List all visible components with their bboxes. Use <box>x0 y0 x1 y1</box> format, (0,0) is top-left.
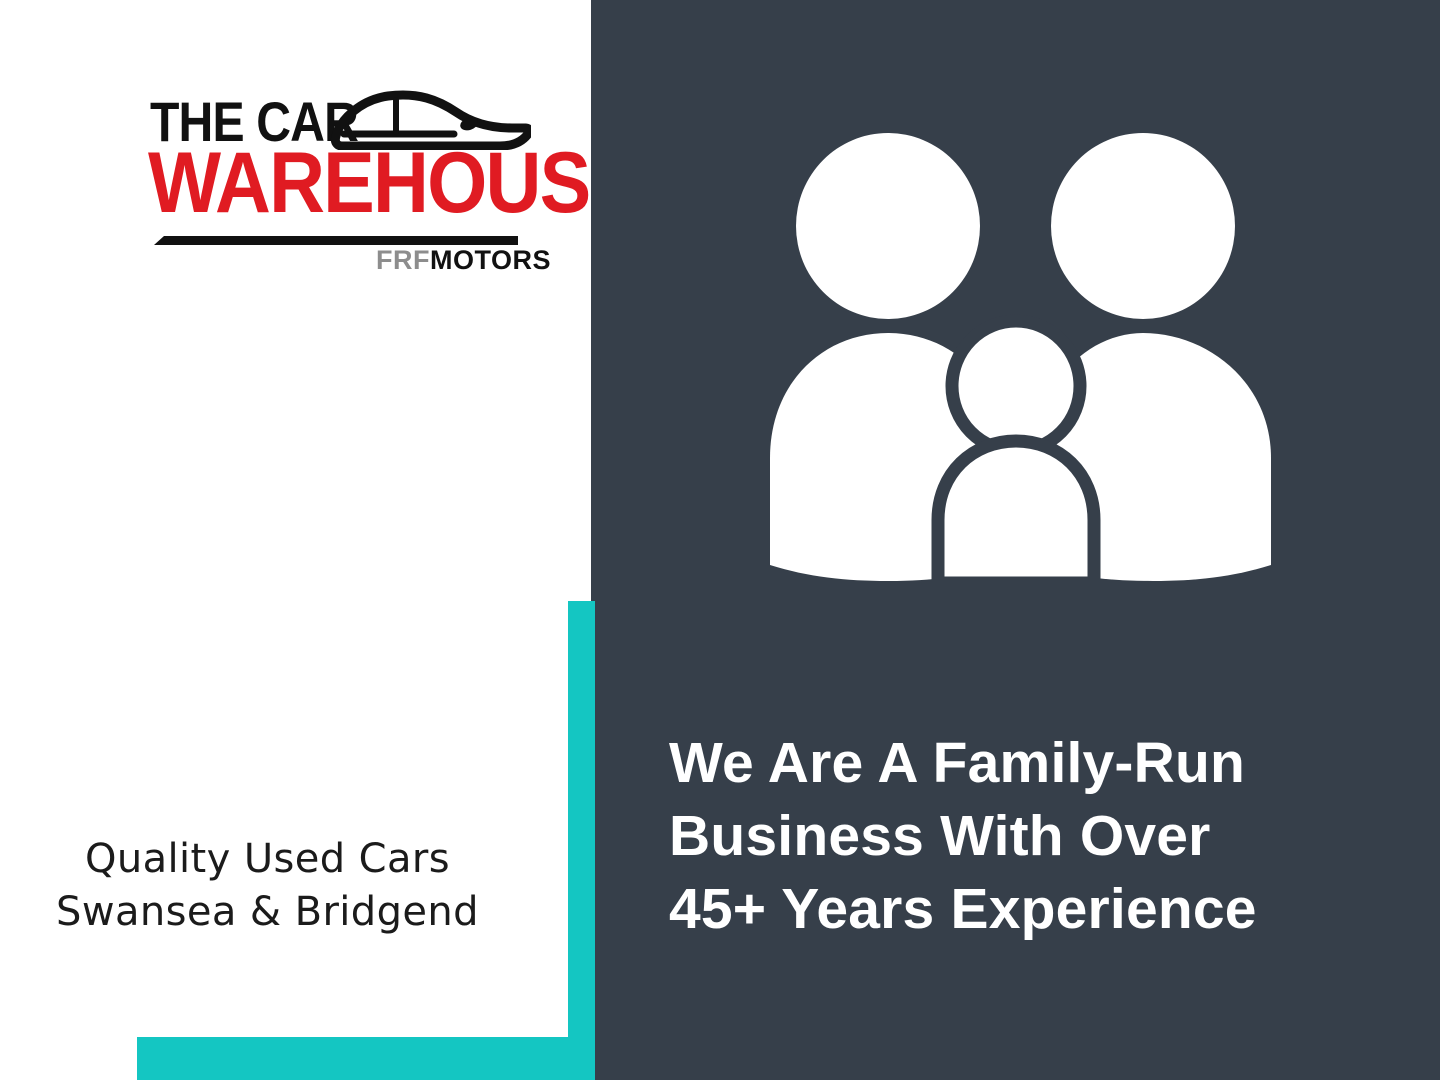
teal-accent-horizontal-bar <box>137 1037 595 1080</box>
left-white-panel: THE CAR WAREHOUSE FRFMOTORS Quality Used… <box>0 0 591 1080</box>
teal-accent-vertical-bar <box>568 601 595 1080</box>
brand-logo[interactable]: THE CAR WAREHOUSE FRFMOTORS <box>150 88 525 283</box>
headline: We Are A Family-Run Business With Over 4… <box>669 727 1389 946</box>
family-group-icon <box>758 128 1283 583</box>
logo-sublabel: FRFMOTORS <box>376 245 551 275</box>
tagline-line-1: Quality Used Cars <box>0 833 535 886</box>
headline-line-1: We Are A Family-Run <box>669 727 1389 800</box>
headline-line-3: 45+ Years Experience <box>669 873 1389 946</box>
tagline-line-2: Swansea & Bridgend <box>0 886 535 939</box>
logo-line-warehouse: WAREHOUSE <box>148 140 639 226</box>
logo-sublabel-frf: FRF <box>376 245 430 275</box>
logo-sublabel-motors: MOTORS <box>430 245 551 275</box>
logo-divider-rule <box>154 236 518 245</box>
slide-canvas: THE CAR WAREHOUSE FRFMOTORS Quality Used… <box>0 0 1440 1080</box>
headline-line-2: Business With Over <box>669 800 1389 873</box>
tagline: Quality Used Cars Swansea & Bridgend <box>0 833 535 939</box>
